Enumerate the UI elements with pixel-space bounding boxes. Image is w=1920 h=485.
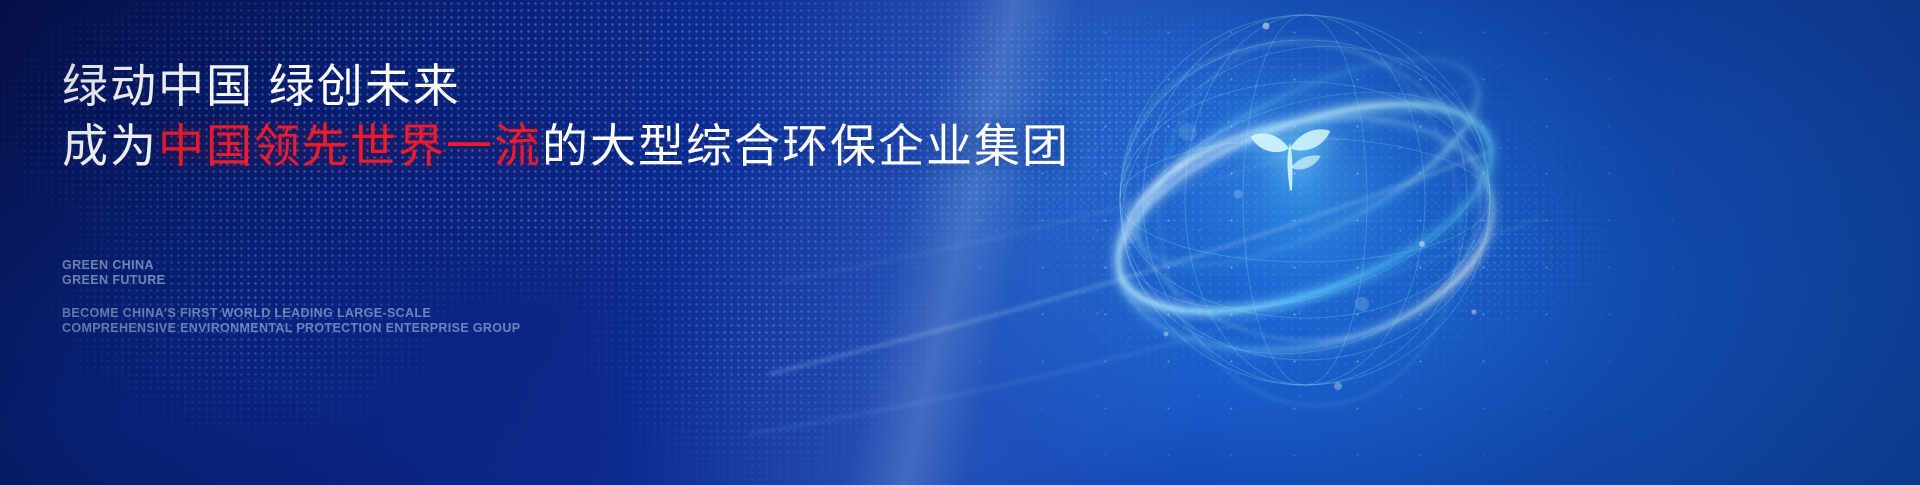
headline-line-2: 成为中国领先世界一流的大型综合环保企业集团 (62, 118, 1062, 174)
subcopy-line-2: COMPREHENSIVE ENVIRONMENTAL PROTECTION E… (62, 321, 520, 336)
tagline-line-2: GREEN FUTURE (62, 273, 165, 288)
hero-banner: 绿动中国 绿创未来 成为中国领先世界一流的大型综合环保企业集团 GREEN CH… (0, 0, 1920, 485)
sprout-leaf-icon (1242, 108, 1338, 204)
glowing-wireframe-globe (1070, 0, 1540, 452)
tagline-line-1: GREEN CHINA (62, 258, 165, 273)
subcopy-block: BECOME CHINA'S FIRST WORLD LEADING LARGE… (62, 306, 520, 336)
headline-prefix: 成为 (62, 120, 158, 172)
headline-suffix: 的大型综合环保企业集团 (542, 120, 1070, 172)
subcopy-line-1: BECOME CHINA'S FIRST WORLD LEADING LARGE… (62, 306, 520, 321)
headline-highlight: 中国领先世界一流 (158, 120, 542, 172)
tagline-block: GREEN CHINA GREEN FUTURE (62, 258, 165, 288)
headline-line-1: 绿动中国 绿创未来 (62, 58, 1062, 114)
headline-block: 绿动中国 绿创未来 成为中国领先世界一流的大型综合环保企业集团 (62, 58, 1062, 174)
